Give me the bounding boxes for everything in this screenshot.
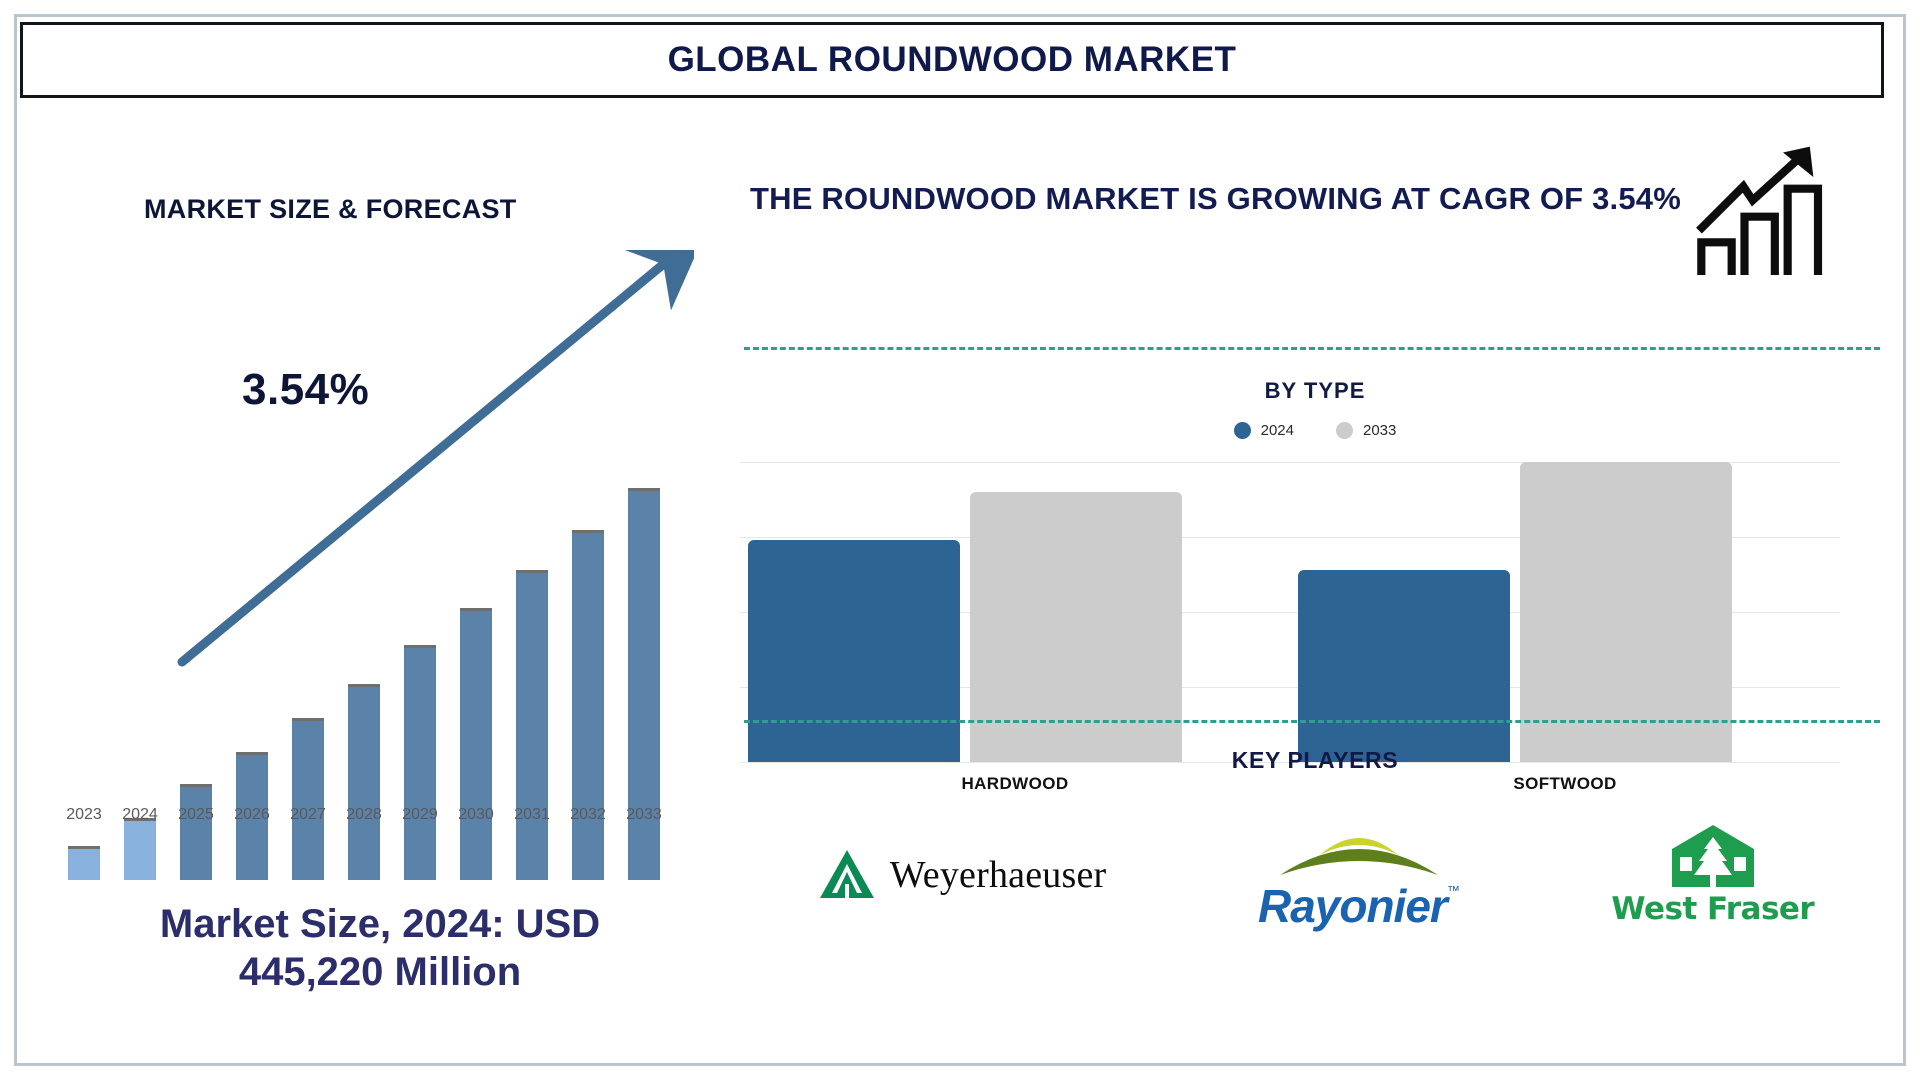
legend-dot-2033 — [1336, 422, 1353, 439]
key-player-weyerhaeuser: Weyerhaeuser — [816, 810, 1107, 940]
market-size-line-1: Market Size, 2024: USD — [24, 900, 736, 948]
forecast-bar — [124, 818, 156, 880]
forecast-year-label: 2030 — [452, 806, 500, 824]
by-type-title: BY TYPE — [740, 378, 1890, 404]
by-type-legend: 2024 2033 — [740, 422, 1890, 439]
forecast-year-label: 2029 — [396, 806, 444, 824]
forecast-year-label: 2024 — [116, 806, 164, 824]
by-type-bar — [1520, 462, 1732, 762]
by-type-bar — [748, 540, 960, 762]
by-type-bar-chart: HARDWOODSOFTWOOD — [740, 462, 1840, 762]
key-player-name-weyerhaeuser: Weyerhaeuser — [890, 853, 1107, 897]
market-size-line-2: 445,220 Million — [24, 948, 736, 996]
rayonier-trademark-icon: ™ — [1447, 883, 1460, 898]
legend-item-2033: 2033 — [1336, 422, 1396, 439]
forecast-bar — [516, 570, 548, 880]
forecast-year-label: 2031 — [508, 806, 556, 824]
legend-dot-2024 — [1234, 422, 1251, 439]
infographic-page: GLOBAL ROUNDWOOD MARKET MARKET SIZE & FO… — [0, 0, 1920, 1080]
forecast-year-label: 2025 — [172, 806, 220, 824]
forecast-year-label: 2032 — [564, 806, 612, 824]
forecast-bar — [460, 608, 492, 880]
forecast-bar — [68, 846, 100, 880]
by-type-category-label: HARDWOOD — [740, 774, 1290, 794]
key-player-name-west-fraser: West Fraser — [1611, 891, 1814, 927]
key-player-rayonier: Rayonier ™ — [1258, 810, 1460, 940]
by-type-category-label: SOFTWOOD — [1290, 774, 1840, 794]
forecast-bar — [180, 784, 212, 880]
key-player-west-fraser: West Fraser — [1611, 810, 1814, 940]
divider-top — [744, 347, 1880, 350]
legend-label-2033: 2033 — [1363, 422, 1396, 439]
forecast-bar — [292, 718, 324, 880]
key-player-name-rayonier: Rayonier — [1258, 883, 1447, 929]
forecast-bar — [348, 684, 380, 880]
forecast-bar — [572, 530, 604, 880]
forecast-bar-chart: 2023202420252026202720282029203020312032… — [58, 270, 718, 970]
market-detail-panel: THE ROUNDWOOD MARKET IS GROWING AT CAGR … — [740, 110, 1890, 1050]
bar-chart-growth-icon — [1692, 142, 1832, 282]
growth-headline: THE ROUNDWOOD MARKET IS GROWING AT CAGR … — [750, 178, 1700, 221]
legend-item-2024: 2024 — [1234, 422, 1294, 439]
forecast-year-label: 2027 — [284, 806, 332, 824]
page-title: GLOBAL ROUNDWOOD MARKET — [668, 40, 1237, 80]
forecast-year-label: 2023 — [60, 806, 108, 824]
key-players-list: Weyerhaeuser Rayonier ™ — [740, 800, 1890, 950]
forecast-year-label: 2033 — [620, 806, 668, 824]
market-size-value: Market Size, 2024: USD 445,220 Million — [24, 900, 736, 996]
market-size-forecast-panel: MARKET SIZE & FORECAST 3.54% 20232024202… — [24, 110, 736, 1050]
legend-label-2024: 2024 — [1261, 422, 1294, 439]
forecast-year-label: 2026 — [228, 806, 276, 824]
by-type-bar — [1298, 570, 1510, 762]
page-title-bar: GLOBAL ROUNDWOOD MARKET — [20, 22, 1884, 98]
forecast-year-label: 2028 — [340, 806, 388, 824]
market-size-forecast-title: MARKET SIZE & FORECAST — [144, 194, 517, 225]
weyerhaeuser-triangle-tree-icon — [816, 844, 878, 906]
west-fraser-tree-house-icon — [1670, 823, 1756, 889]
forecast-bar — [404, 645, 436, 880]
rayonier-arc-icon — [1266, 821, 1452, 883]
divider-bottom — [744, 720, 1880, 723]
key-players-title: KEY PLAYERS — [740, 747, 1890, 774]
